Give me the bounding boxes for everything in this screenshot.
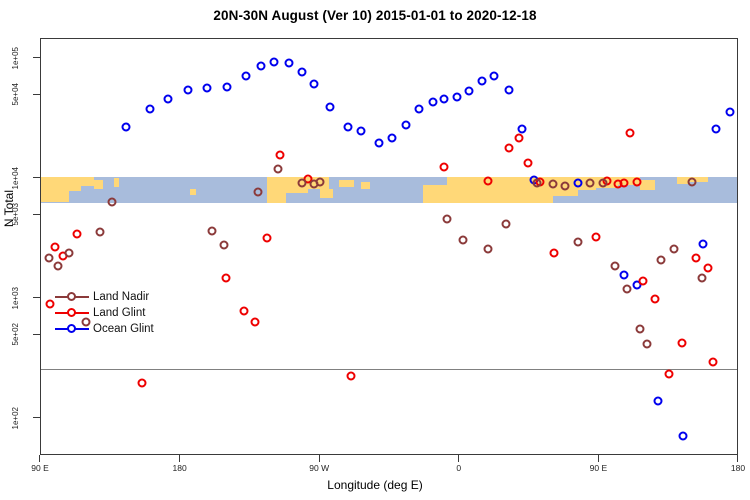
map-landmass: [41, 177, 69, 202]
data-point: [145, 105, 154, 114]
legend-marker-icon: [55, 323, 89, 335]
data-point: [623, 285, 632, 294]
x-tick-mark: [179, 455, 180, 462]
map-landmass: [114, 178, 119, 187]
data-point: [241, 72, 250, 81]
data-point: [489, 72, 498, 81]
data-point: [254, 187, 263, 196]
data-point: [240, 306, 249, 315]
data-point: [401, 121, 410, 130]
data-point: [452, 93, 461, 102]
data-point: [285, 59, 294, 68]
data-point: [108, 198, 117, 207]
data-point: [505, 144, 514, 153]
data-point: [316, 178, 325, 187]
data-point: [699, 239, 708, 248]
data-point: [654, 397, 663, 406]
data-point: [344, 123, 353, 132]
data-point: [483, 245, 492, 254]
data-point: [443, 215, 452, 224]
data-point: [257, 61, 266, 70]
data-point: [440, 95, 449, 104]
map-landmass: [267, 177, 286, 203]
data-point: [202, 84, 211, 93]
data-point: [697, 273, 706, 282]
data-point: [274, 165, 283, 174]
data-point: [592, 232, 601, 241]
data-point: [691, 253, 700, 262]
data-point: [598, 179, 607, 188]
data-point: [620, 178, 629, 187]
data-point: [635, 325, 644, 334]
data-point: [297, 67, 306, 76]
x-tick-mark: [598, 455, 599, 462]
x-tick-label: 180: [173, 463, 187, 473]
map-landmass: [423, 185, 448, 203]
y-tick-mark: [33, 57, 40, 58]
map-landmass: [361, 182, 370, 189]
data-point: [514, 133, 523, 142]
y-tick-mark: [33, 417, 40, 418]
data-point: [465, 87, 474, 96]
data-point: [184, 86, 193, 95]
legend-item-land-nadir[interactable]: Land Nadir: [55, 289, 154, 305]
data-point: [325, 102, 334, 111]
data-point: [137, 378, 146, 387]
y-tick-mark: [33, 297, 40, 298]
data-point: [586, 178, 595, 187]
data-point: [207, 226, 216, 235]
data-point: [632, 177, 641, 186]
data-point: [502, 220, 511, 229]
map-landmass: [94, 180, 103, 189]
data-point: [263, 234, 272, 243]
data-point: [703, 264, 712, 273]
data-point: [665, 370, 674, 379]
data-point: [688, 178, 697, 187]
data-point: [679, 432, 688, 441]
data-point: [548, 180, 557, 189]
y-tick-mark: [33, 214, 40, 215]
data-point: [517, 125, 526, 134]
data-point: [638, 277, 647, 286]
legend-item-ocean-glint[interactable]: Ocean Glint: [55, 321, 154, 337]
data-point: [610, 261, 619, 270]
x-tick-label: 90 W: [309, 463, 329, 473]
x-tick-mark: [319, 455, 320, 462]
data-point: [626, 129, 635, 138]
plot-area: Land NadirLand GlintOcean Glint: [40, 38, 738, 455]
legend-item-label: Ocean Glint: [93, 323, 154, 335]
data-point: [657, 256, 666, 265]
figure-root: 20N-30N August (Ver 10) 2015-01-01 to 20…: [0, 0, 750, 500]
data-point: [122, 123, 131, 132]
data-point: [164, 95, 173, 104]
data-point: [251, 318, 260, 327]
data-point: [573, 179, 582, 188]
data-point: [440, 163, 449, 172]
data-point: [669, 245, 678, 254]
data-point: [505, 86, 514, 95]
data-point: [429, 97, 438, 106]
legend-item-label: Land Glint: [93, 307, 145, 319]
data-point: [477, 76, 486, 85]
x-tick-mark: [39, 455, 40, 462]
data-point: [309, 79, 318, 88]
data-point: [677, 338, 686, 347]
data-point: [550, 249, 559, 258]
data-point: [573, 237, 582, 246]
x-tick-label: 90 E: [590, 463, 608, 473]
x-tick-label: 0: [456, 463, 461, 473]
data-point: [95, 228, 104, 237]
data-point: [651, 295, 660, 304]
legend-item-label: Land Nadir: [93, 291, 149, 303]
data-point: [347, 371, 356, 380]
y-tick-mark: [33, 334, 40, 335]
x-tick-label: 90 E: [31, 463, 49, 473]
data-point: [220, 241, 229, 250]
data-point: [533, 179, 542, 188]
data-point: [54, 261, 63, 270]
y-tick-mark: [33, 94, 40, 95]
data-point: [275, 150, 284, 159]
map-landmass: [339, 180, 355, 188]
legend-item-land-glint[interactable]: Land Glint: [55, 305, 154, 321]
data-point: [561, 182, 570, 191]
data-point: [458, 236, 467, 245]
map-landmass: [320, 189, 332, 198]
data-point: [387, 133, 396, 142]
legend-marker-icon: [55, 291, 89, 303]
x-tick-mark: [458, 455, 459, 462]
map-landmass: [69, 177, 81, 191]
x-axis-title: Longitude (deg E): [0, 478, 750, 492]
data-point: [725, 108, 734, 117]
y-tick-mark: [33, 177, 40, 178]
legend: Land NadirLand GlintOcean Glint: [55, 289, 154, 337]
data-point: [44, 253, 53, 262]
data-point: [50, 243, 59, 252]
map-landmass: [190, 189, 196, 196]
chart-title: 20N-30N August (Ver 10) 2015-01-01 to 20…: [0, 8, 750, 23]
data-point: [375, 138, 384, 147]
data-point: [64, 249, 73, 258]
data-point: [415, 105, 424, 114]
data-point: [524, 159, 533, 168]
map-landmass: [640, 180, 656, 190]
data-point: [711, 125, 720, 134]
data-point: [620, 270, 629, 279]
data-point: [269, 57, 278, 66]
data-point: [356, 127, 365, 136]
x-tick-label: 180: [731, 463, 745, 473]
data-point: [46, 300, 55, 309]
map-landmass: [81, 177, 93, 186]
x-tick-mark: [737, 455, 738, 462]
data-point: [223, 83, 232, 92]
panel-separator: [41, 369, 738, 370]
data-point: [72, 229, 81, 238]
data-point: [221, 273, 230, 282]
data-point: [643, 340, 652, 349]
data-point: [708, 357, 717, 366]
data-point: [483, 176, 492, 185]
data-point: [297, 178, 306, 187]
legend-marker-icon: [55, 307, 89, 319]
